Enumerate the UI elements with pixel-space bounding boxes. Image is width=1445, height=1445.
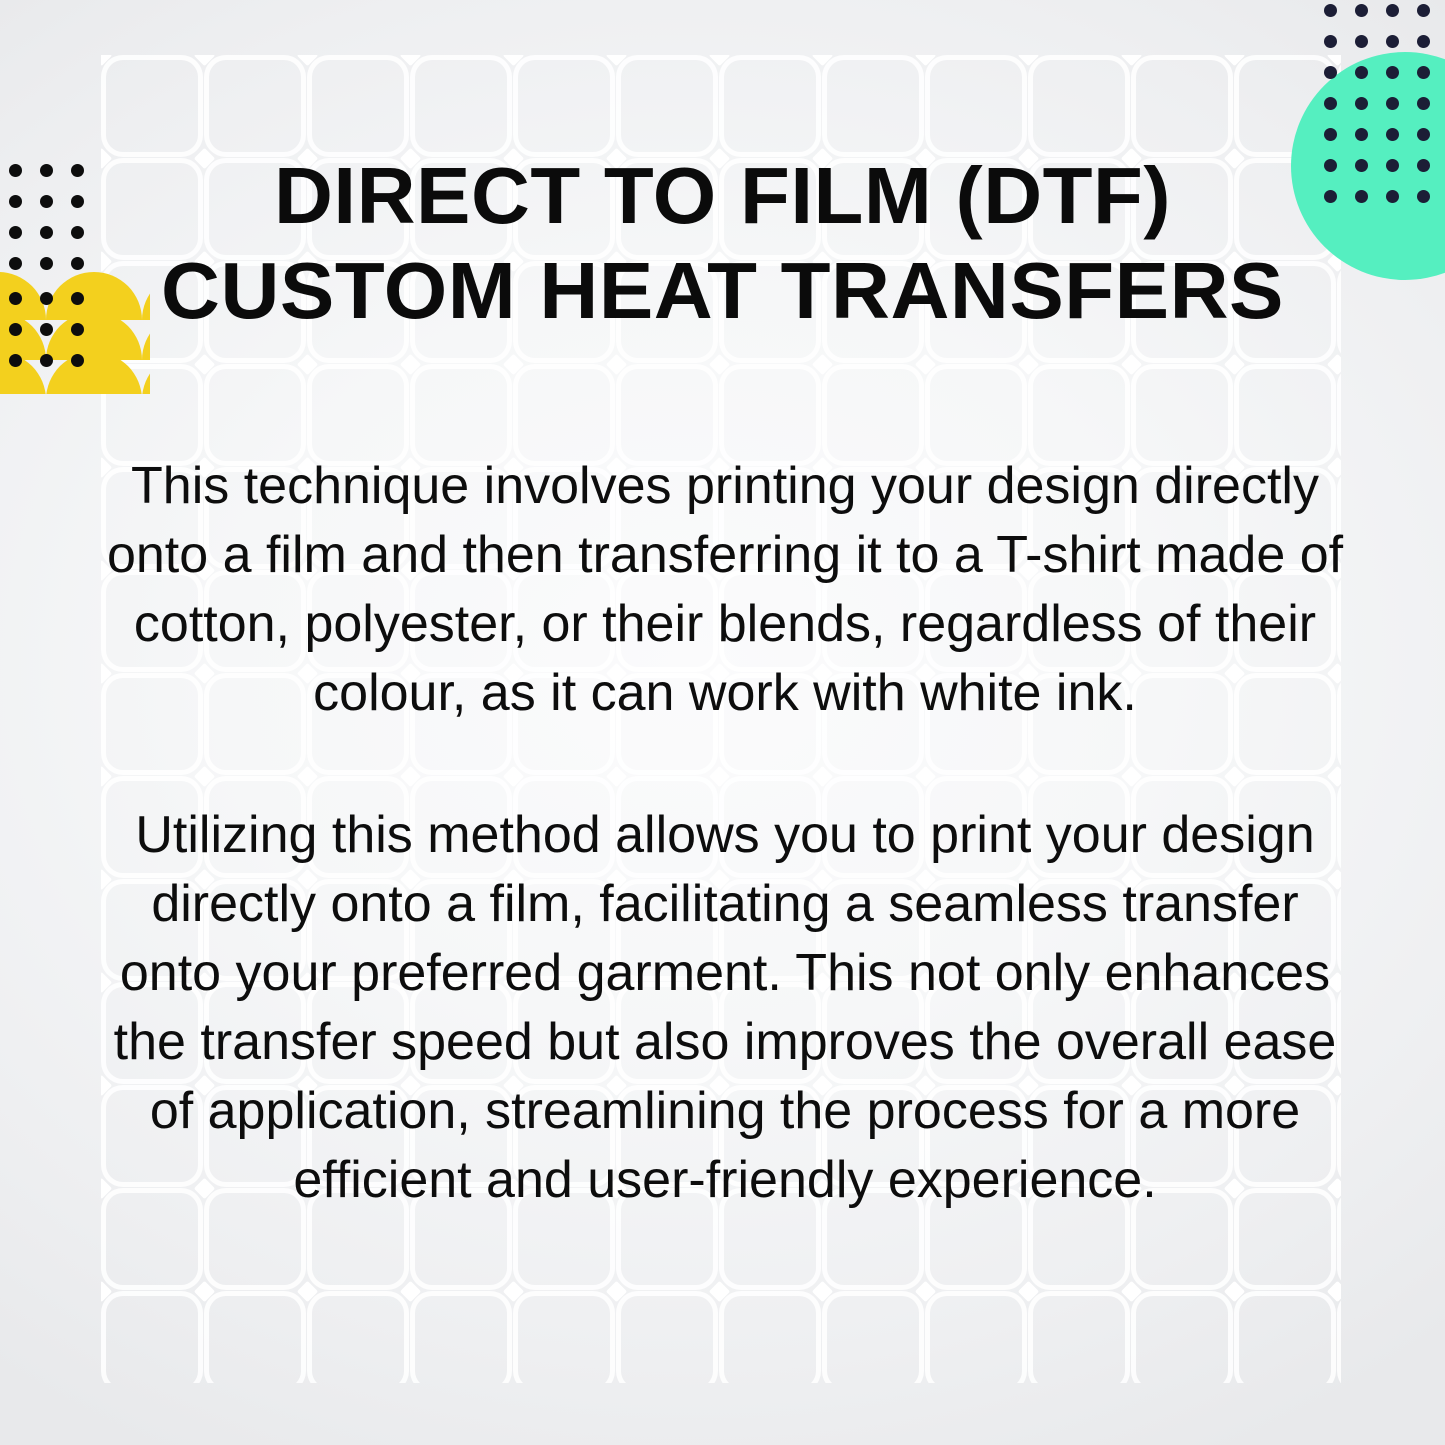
black-dot-grid-overlay — [9, 164, 105, 454]
decorative-dot — [9, 323, 22, 336]
decorative-dot — [71, 292, 84, 305]
paragraph-1: This technique involves printing your de… — [100, 452, 1350, 728]
decorative-dot — [40, 292, 53, 305]
decorative-dot — [40, 354, 53, 367]
decorative-dot — [71, 354, 84, 367]
page-title: DIRECT TO FILM (DTF) CUSTOM HEAT TRANSFE… — [108, 148, 1337, 338]
poster-content: DIRECT TO FILM (DTF) CUSTOM HEAT TRANSFE… — [0, 0, 1445, 1445]
title-line-1: DIRECT TO FILM (DTF) — [108, 148, 1337, 243]
decorative-dot — [9, 292, 22, 305]
decorative-dot — [71, 323, 84, 336]
body-copy: This technique involves printing your de… — [100, 452, 1350, 1215]
decorative-dot — [40, 323, 53, 336]
title-line-2: CUSTOM HEAT TRANSFERS — [108, 243, 1337, 338]
poster-canvas: DIRECT TO FILM (DTF) CUSTOM HEAT TRANSFE… — [0, 0, 1445, 1445]
paragraph-2: Utilizing this method allows you to prin… — [100, 801, 1350, 1215]
decorative-dot — [9, 354, 22, 367]
